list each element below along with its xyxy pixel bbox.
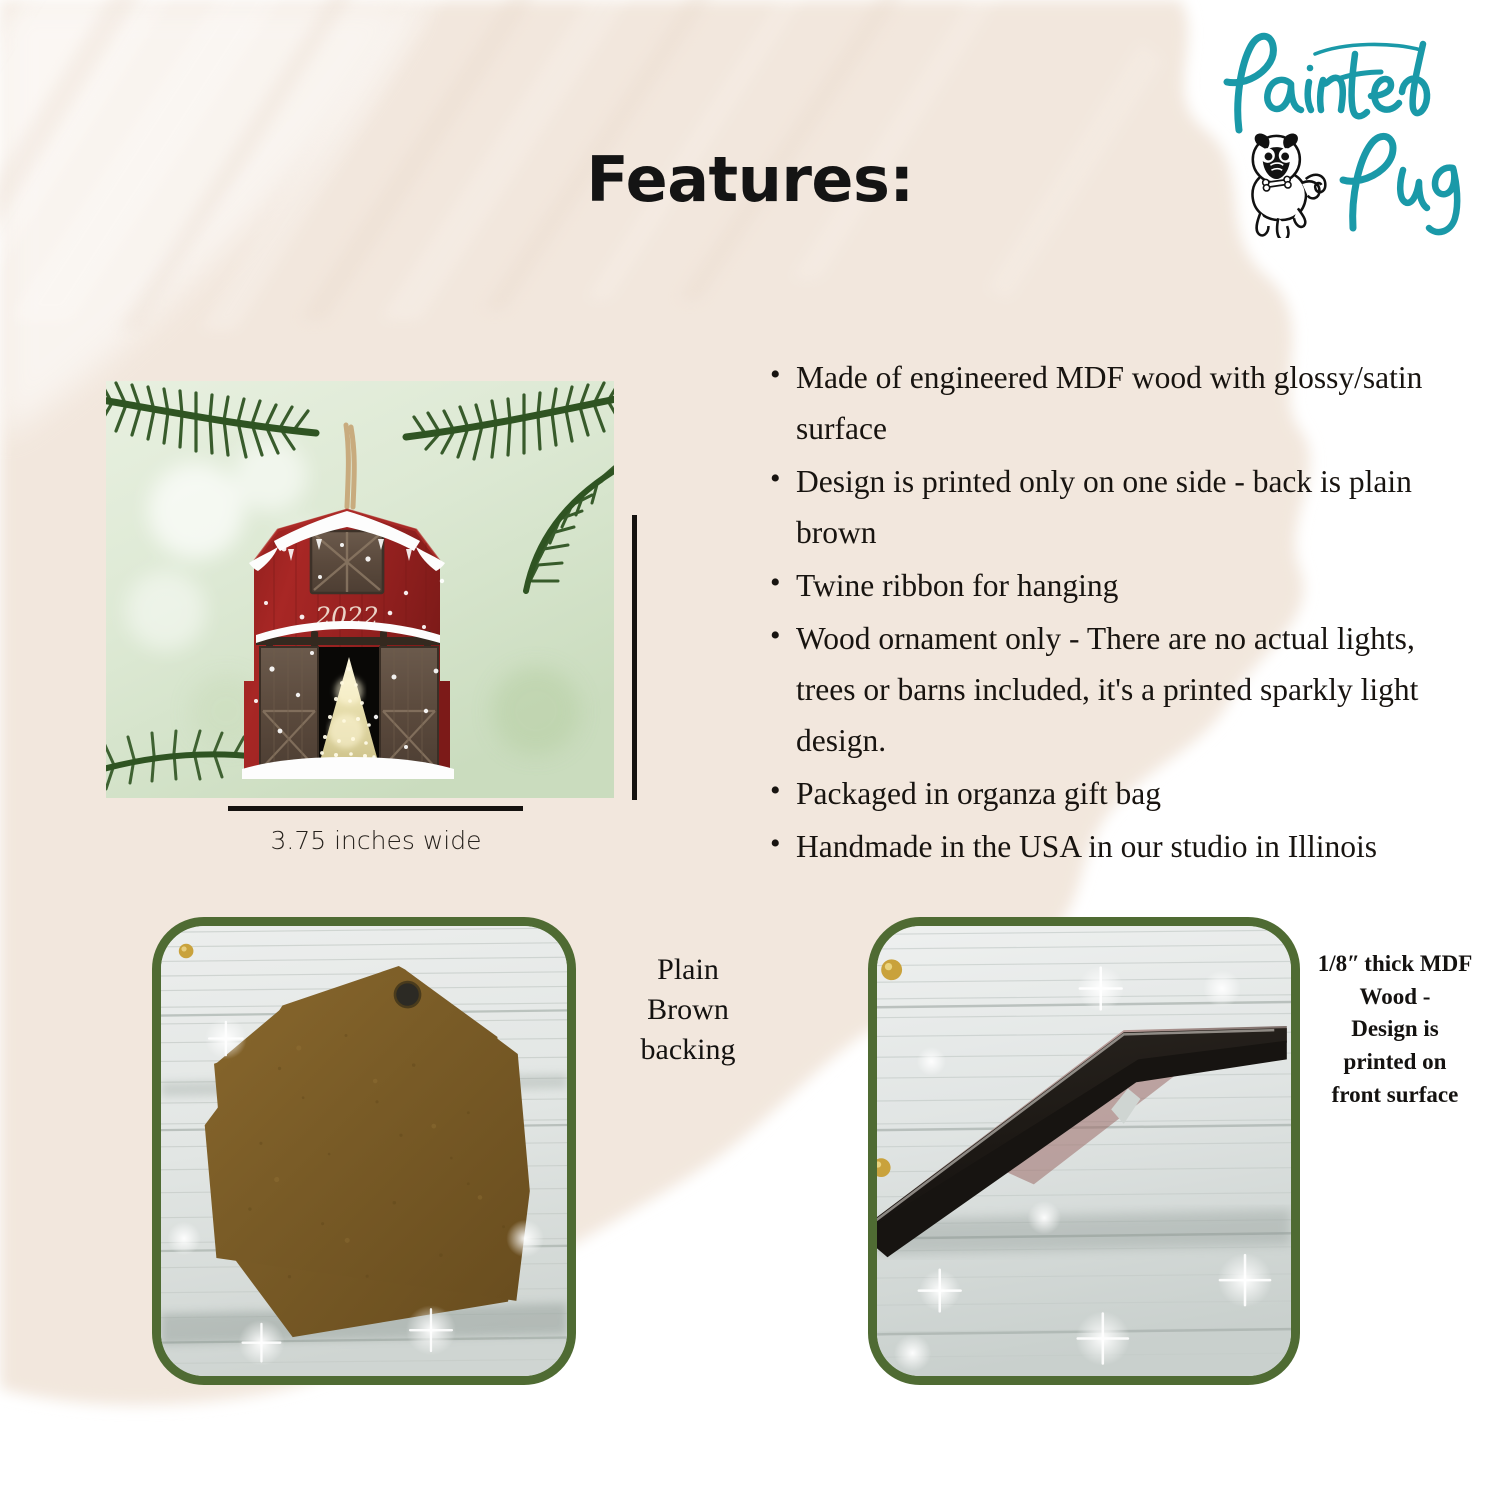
feature-text: Design is printed only on one side - bac… [796, 464, 1412, 550]
feature-item: • Wood ornament only - There are no actu… [762, 613, 1452, 766]
caption-line: Design is [1300, 1013, 1490, 1046]
caption-line: Wood - [1300, 981, 1490, 1014]
caption-thickness: 1/8ʺ thick MDF Wood - Design is printed … [1300, 948, 1490, 1111]
width-dimension-rule [228, 806, 523, 811]
bullet-icon: • [770, 351, 781, 400]
bullet-icon: • [770, 767, 781, 816]
feature-text: Twine ribbon for hanging [796, 568, 1118, 603]
caption-line: front surface [1300, 1079, 1490, 1112]
caption-line: Brown [600, 990, 776, 1030]
height-dimension-rule [632, 515, 637, 800]
bullet-icon: • [770, 455, 781, 504]
product-photo-main: 2022 [106, 381, 614, 798]
feature-item: • Design is printed only on one side - b… [762, 456, 1452, 558]
width-dimension-label: 3.75 inches wide [228, 826, 524, 855]
feature-item: • Twine ribbon for hanging [762, 560, 1452, 611]
bullet-icon: • [770, 612, 781, 661]
feature-text: Handmade in the USA in our studio in Ill… [796, 829, 1377, 864]
infographic-canvas: Features: • Made of engineered MDF wood … [0, 0, 1500, 1500]
bullet-icon: • [770, 559, 781, 608]
feature-item: • Packaged in organza gift bag [762, 768, 1452, 819]
photo-edge-thickness [868, 917, 1300, 1385]
feature-text: Made of engineered MDF wood with glossy/… [796, 360, 1422, 446]
features-list: • Made of engineered MDF wood with gloss… [762, 352, 1452, 874]
photo-plain-brown-backing [152, 917, 576, 1385]
caption-line: printed on [1300, 1046, 1490, 1079]
caption-plain-brown-backing: Plain Brown backing [600, 950, 776, 1070]
feature-text: Wood ornament only - There are no actual… [796, 621, 1418, 758]
feature-text: Packaged in organza gift bag [796, 776, 1161, 811]
feature-item: • Handmade in the USA in our studio in I… [762, 821, 1452, 872]
bullet-icon: • [770, 820, 781, 869]
caption-line: 1/8ʺ thick MDF [1300, 948, 1490, 981]
feature-item: • Made of engineered MDF wood with gloss… [762, 352, 1452, 454]
caption-line: Plain [600, 950, 776, 990]
caption-line: backing [600, 1030, 776, 1070]
page-title: Features: [0, 143, 1500, 216]
